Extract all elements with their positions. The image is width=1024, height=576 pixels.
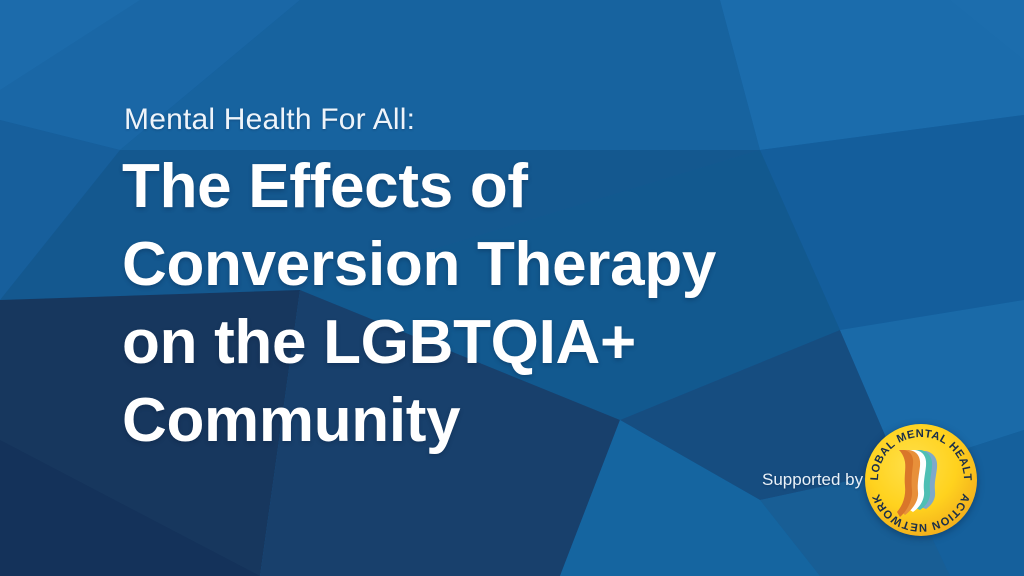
title-line-4: Community xyxy=(122,382,882,460)
title-line-1: The Effects of xyxy=(122,148,882,226)
title-slide: Mental Health For All: The Effects of Co… xyxy=(0,0,1024,576)
title-line-2: Conversion Therapy xyxy=(122,226,882,304)
gmhan-logo: GLOBAL MENTAL HEALTH ACTION NETWORK xyxy=(864,423,978,537)
supported-by-label: Supported by xyxy=(762,470,863,490)
page-title: The Effects of Conversion Therapy on the… xyxy=(122,148,882,460)
gmhan-logo-svg: GLOBAL MENTAL HEALTH ACTION NETWORK xyxy=(864,423,978,537)
slide-subtitle: Mental Health For All: xyxy=(124,102,415,138)
title-line-3: on the LGBTQIA+ xyxy=(122,304,882,382)
